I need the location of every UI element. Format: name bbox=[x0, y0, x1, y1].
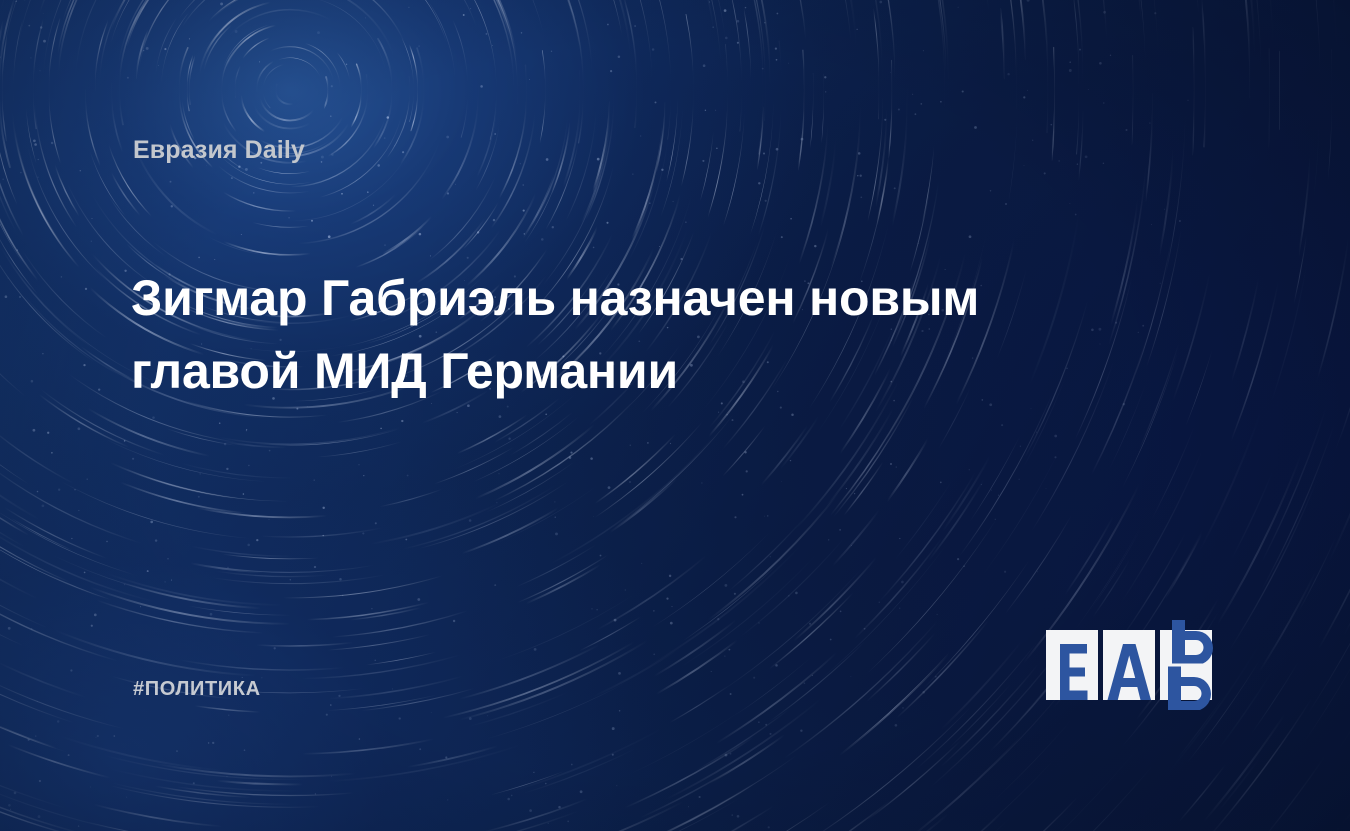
logo-tile-e bbox=[1046, 630, 1098, 700]
ead-logo[interactable] bbox=[1046, 616, 1230, 710]
ead-logo-svg bbox=[1046, 616, 1230, 710]
brand-label: Евразия Daily bbox=[133, 136, 305, 165]
logo-tile-d-seam bbox=[1160, 664, 1212, 667]
news-card: Евразия Daily Зигмар Габриэль назначен н… bbox=[0, 0, 1350, 831]
category-tag[interactable]: #ПОЛИТИКА bbox=[133, 678, 261, 701]
page-title: Зигмар Габриэль назначен новым главой МИ… bbox=[131, 262, 1091, 408]
logo-letter-e bbox=[1060, 644, 1088, 700]
card-content: Евразия Daily Зигмар Габриэль назначен н… bbox=[0, 0, 1350, 831]
